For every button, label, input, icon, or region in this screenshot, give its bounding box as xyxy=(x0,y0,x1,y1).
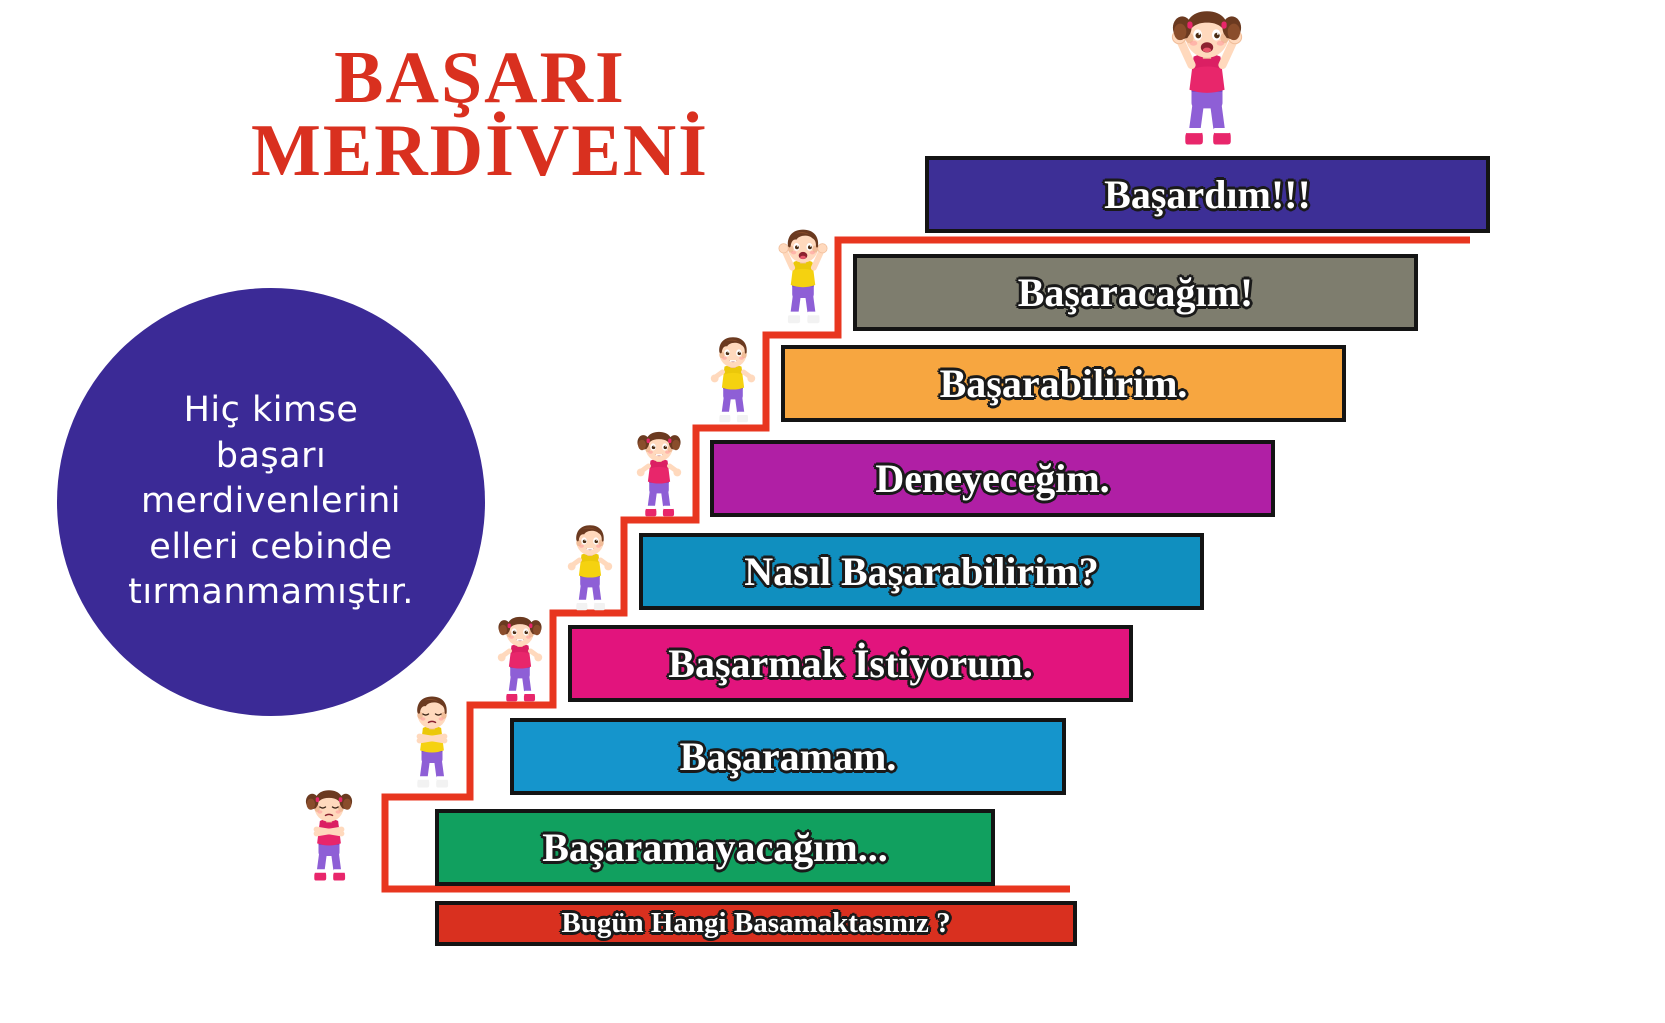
kid-sulking-girl-icon xyxy=(293,786,365,891)
step-bar-3[interactable]: Başarabilirim. xyxy=(781,345,1346,422)
step-label-6: Başarmak İstiyorum. xyxy=(668,640,1032,687)
poster-root: BAŞARI MERDİVENİ Hiç kimse başarı merdiv… xyxy=(0,0,1665,1023)
footer-question-bar[interactable]: Bugün Hangi Basamaktasınız ? xyxy=(435,901,1077,946)
quote-text: Hiç kimse başarı merdivenlerini elleri c… xyxy=(128,388,414,616)
kid-flexing-boy-icon xyxy=(692,334,774,432)
kid-determined-girl-icon xyxy=(620,428,698,526)
step-bar-8[interactable]: Başaramayacağım... xyxy=(435,809,995,886)
step-bar-6[interactable]: Başarmak İstiyorum. xyxy=(568,625,1133,702)
page-title: BAŞARI MERDİVENİ xyxy=(100,42,860,187)
step-label-1: Başardım!!! xyxy=(1104,171,1311,218)
footer-question-label: Bugün Hangi Basamaktasınız ? xyxy=(561,907,950,940)
step-label-2: Başaracağım! xyxy=(1018,269,1254,316)
step-label-7: Başaramam. xyxy=(680,733,897,780)
kid-cheering-boy-icon xyxy=(762,226,844,334)
step-bar-2[interactable]: Başaracağım! xyxy=(853,254,1418,331)
step-label-5: Nasıl Başarabilirim? xyxy=(744,548,1098,595)
kid-curious-boy-icon xyxy=(550,522,630,620)
step-label-4: Deneyeceğim. xyxy=(875,455,1109,502)
step-bar-5[interactable]: Nasıl Başarabilirim? xyxy=(639,533,1204,610)
kid-celebrating-girl-icon xyxy=(1157,5,1257,160)
quote-circle: Hiç kimse başarı merdivenlerini elleri c… xyxy=(57,288,485,716)
kid-arms-crossed-boy-icon xyxy=(398,693,466,798)
step-label-8: Başaramayacağım... xyxy=(542,824,888,871)
step-bar-4[interactable]: Deneyeceğim. xyxy=(710,440,1275,517)
step-label-3: Başarabilirim. xyxy=(940,360,1188,407)
step-bar-1[interactable]: Başardım!!! xyxy=(925,156,1490,233)
step-bar-7[interactable]: Başaramam. xyxy=(510,718,1066,795)
kid-eager-girl-icon xyxy=(480,613,560,711)
